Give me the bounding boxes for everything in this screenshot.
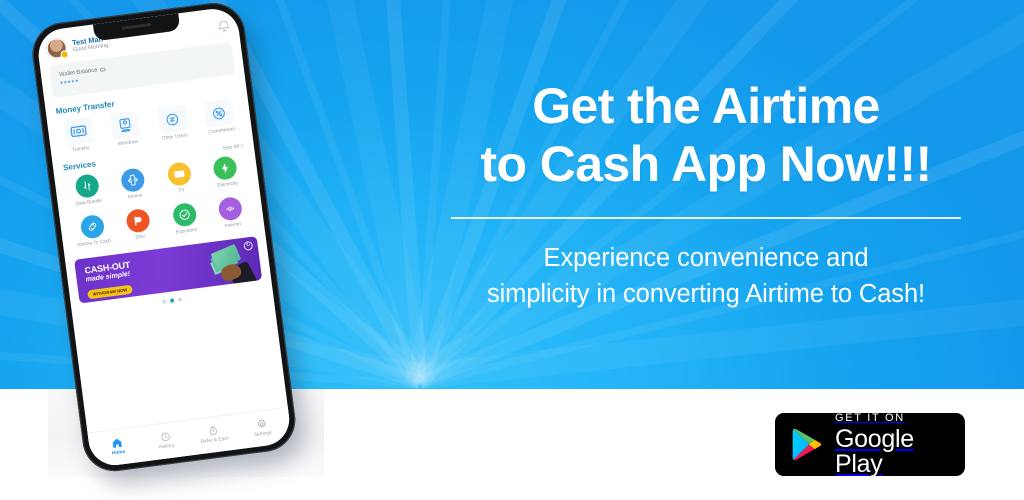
internet-icon — [218, 196, 244, 222]
service-label: Dstv — [119, 232, 161, 243]
phone-speaker — [121, 23, 151, 30]
bell-icon[interactable] — [218, 20, 230, 33]
promo-banner-stage: Test Man Good Morning Wallet Balance — [0, 0, 1024, 500]
google-play-badge[interactable]: GET IT ON Google Play — [775, 413, 965, 476]
carousel-dot[interactable] — [162, 299, 166, 303]
eye-icon[interactable] — [100, 67, 106, 72]
data-bundle-icon — [74, 173, 100, 199]
commission-icon — [204, 98, 235, 127]
service-item[interactable]: Airtime To Cash — [70, 213, 116, 250]
bottom-nav-item[interactable]: Home — [95, 434, 141, 459]
tile-label: Other Users — [154, 132, 196, 142]
atm-withdraw-icon — [110, 110, 141, 139]
promo-cta-button[interactable]: WITHDRAW NOW — [87, 284, 133, 299]
headline: Get the Airtime to Cash App Now!!! — [480, 77, 931, 193]
service-label: Education — [166, 226, 208, 237]
see-all-link[interactable]: See All > — [223, 143, 245, 152]
money-transfer-tile[interactable]: Commission — [197, 97, 243, 136]
airtime-icon — [120, 167, 146, 193]
money-transfer-tile[interactable]: Transfer — [56, 116, 102, 155]
services-title: Services — [63, 159, 97, 172]
subline-line-1: Experience convenience and — [487, 241, 925, 276]
carousel-dot[interactable] — [170, 298, 174, 302]
get-it-on-label: GET IT ON — [835, 413, 948, 424]
promo-text-block: CASH-OUT made simple! WITHDRAW NOW — [84, 260, 134, 302]
service-label: Airtime To Cash — [73, 238, 115, 249]
service-label: TV — [160, 186, 202, 197]
service-label: Data Bundle — [68, 198, 110, 209]
headline-line-2: to Cash App Now!!! — [480, 135, 931, 193]
tile-label: Transfer — [60, 144, 102, 154]
service-label: Internet — [212, 220, 254, 231]
service-item[interactable]: Dstv — [116, 207, 162, 244]
tile-label: Withdraw — [107, 138, 149, 148]
service-item[interactable]: Electricity — [203, 154, 249, 191]
dstv-icon — [125, 208, 151, 234]
service-label: Airtime — [114, 192, 156, 203]
google-play-label: Google Play — [835, 427, 948, 477]
bottom-nav-item[interactable]: Settings — [239, 415, 285, 440]
divider-rule — [451, 217, 961, 219]
avatar-badge — [60, 50, 69, 59]
service-item[interactable]: TV — [157, 160, 203, 197]
subline-line-2: simplicity in converting Airtime to Cash… — [487, 277, 925, 312]
tile-label: Commission — [201, 126, 243, 136]
banner-copy: Get the Airtime to Cash App Now!!! Exper… — [410, 0, 1002, 389]
electricity-icon — [213, 155, 239, 181]
money-transfer-tile[interactable]: Other Users — [150, 103, 196, 142]
service-item[interactable]: Data Bundle — [64, 172, 110, 209]
subline: Experience convenience and simplicity in… — [487, 241, 925, 311]
service-item[interactable]: Education — [162, 201, 208, 238]
airtime-to-cash-icon — [79, 214, 105, 240]
carousel-dot[interactable] — [178, 297, 182, 301]
service-item[interactable]: Internet — [208, 195, 254, 232]
money-transfer-tile[interactable]: Withdraw — [103, 110, 149, 149]
tv-icon — [166, 161, 192, 187]
service-label: Electricity — [207, 180, 249, 191]
bottom-nav-item[interactable]: Refer & Earn — [191, 421, 237, 446]
google-play-icon — [792, 428, 822, 461]
service-item[interactable]: Airtime — [111, 166, 157, 203]
education-icon — [172, 202, 198, 228]
google-play-text: GET IT ON Google Play — [835, 413, 948, 477]
avatar[interactable] — [45, 37, 67, 59]
headline-line-1: Get the Airtime — [480, 77, 931, 135]
transfer-icon — [63, 117, 94, 146]
bottom-nav-item[interactable]: History — [143, 427, 189, 452]
wallet-balance-block: Wallet Balance ***** — [59, 66, 108, 88]
other-users-icon — [157, 104, 188, 133]
